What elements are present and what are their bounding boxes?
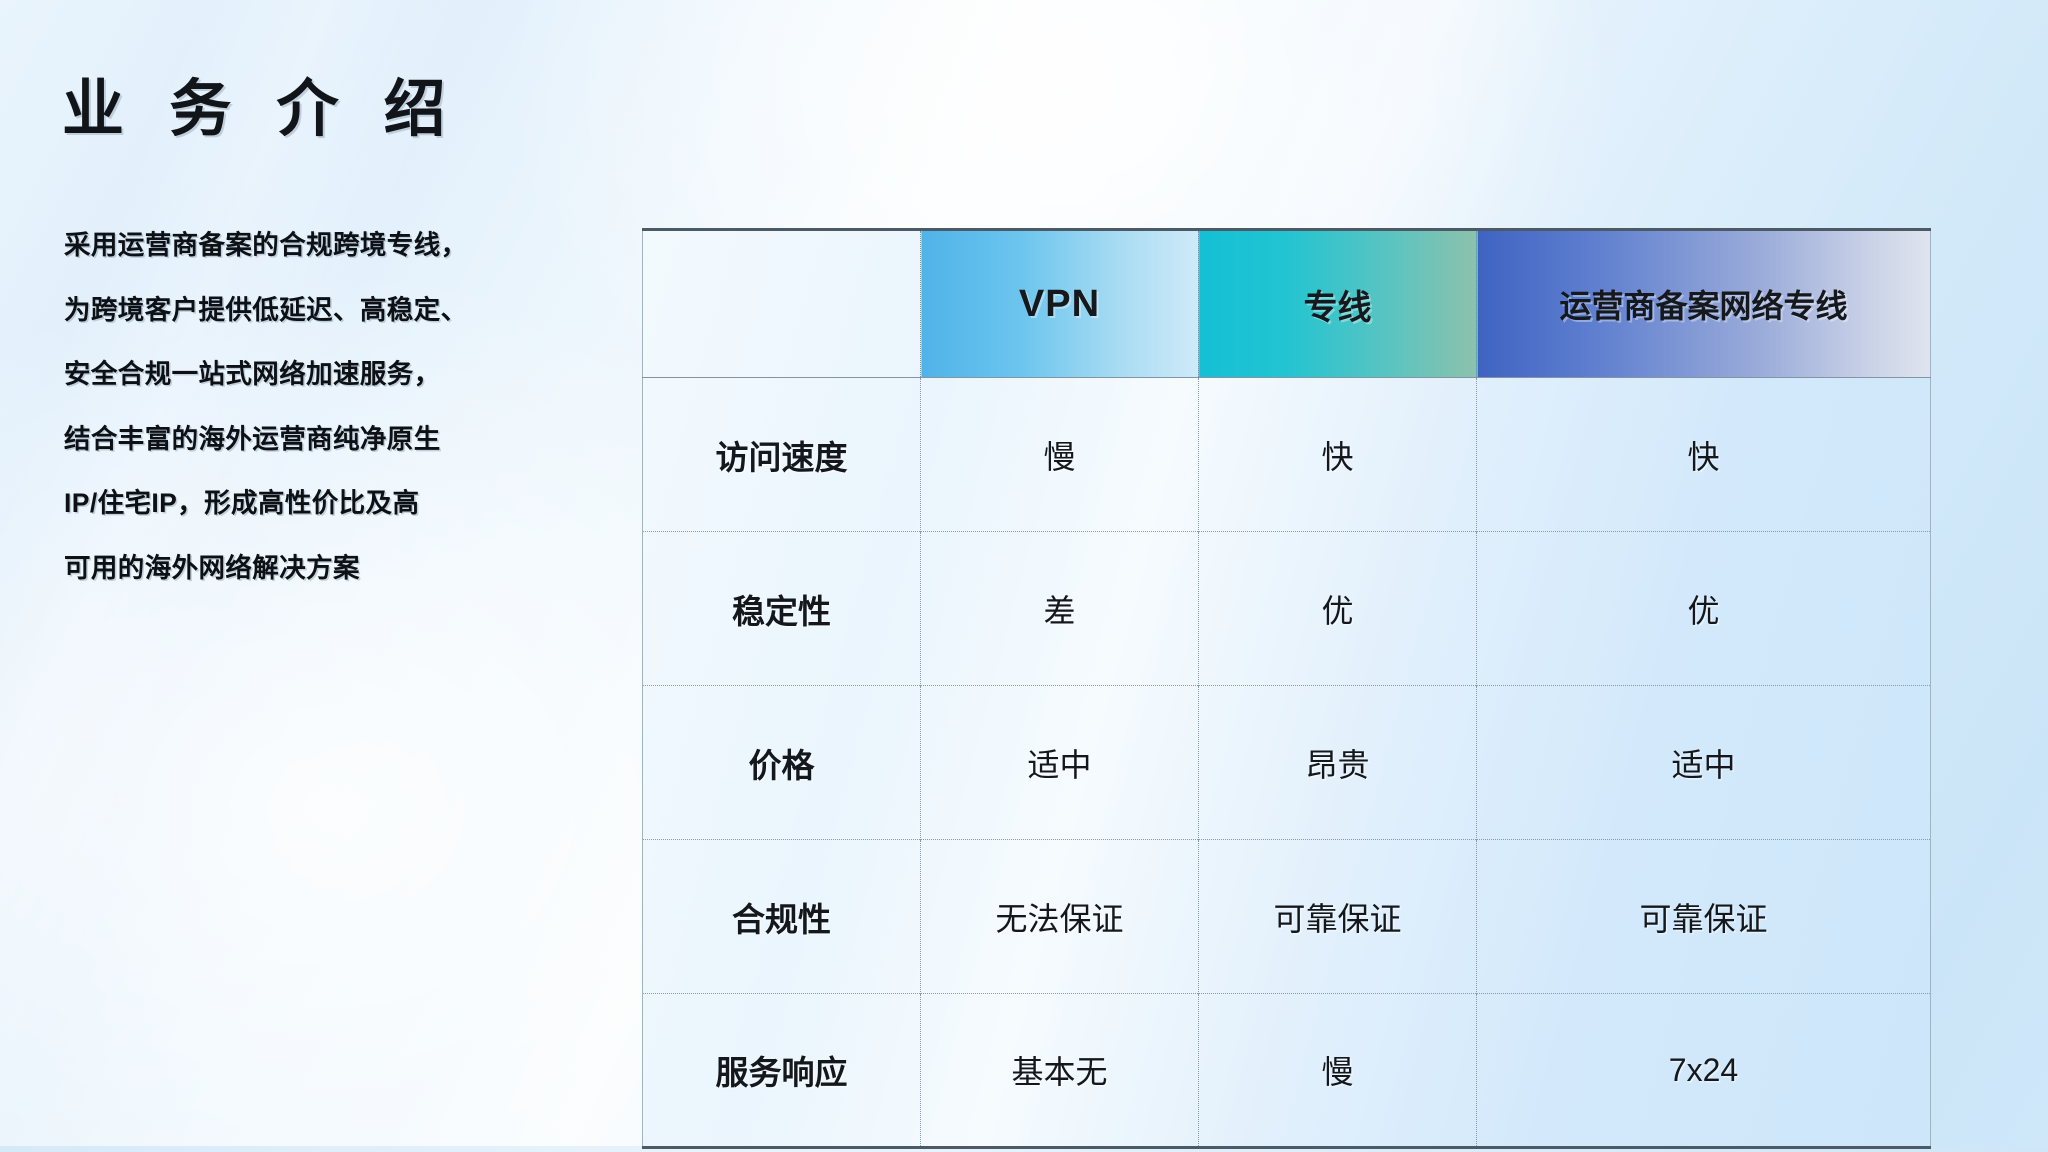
cell-leased: 昂贵 bbox=[1199, 686, 1477, 840]
row-label-compliance: 合规性 bbox=[643, 840, 921, 994]
cell-carrier: 快 bbox=[1477, 378, 1931, 532]
row-label-stability: 稳定性 bbox=[643, 532, 921, 686]
table-row: 访问速度 慢 快 快 bbox=[643, 378, 1931, 532]
cell-vpn: 基本无 bbox=[921, 994, 1199, 1148]
row-label-access-speed: 访问速度 bbox=[643, 378, 921, 532]
cell-carrier: 7x24 bbox=[1477, 994, 1931, 1148]
comparison-table: VPN 专线 运营商备案网络专线 访问速度 慢 快 快 稳定性 差 优 优 bbox=[642, 228, 1931, 1149]
column-header-leased-line: 专线 bbox=[1199, 230, 1477, 378]
column-header-carrier-line: 运营商备案网络专线 bbox=[1477, 230, 1931, 378]
slide-canvas: 业 务 介 绍 采用运营商备案的合规跨境专线， 为跨境客户提供低延迟、高稳定、 … bbox=[0, 0, 2048, 1152]
cell-carrier: 优 bbox=[1477, 532, 1931, 686]
cell-carrier: 适中 bbox=[1477, 686, 1931, 840]
column-header-blank bbox=[643, 230, 921, 378]
column-header-vpn: VPN bbox=[921, 230, 1199, 378]
intro-line: IP/住宅IP，形成高性价比及高 bbox=[64, 490, 624, 517]
cell-leased: 优 bbox=[1199, 532, 1477, 686]
intro-paragraph: 采用运营商备案的合规跨境专线， 为跨境客户提供低延迟、高稳定、 安全合规一站式网… bbox=[64, 232, 624, 581]
table-row: 服务响应 基本无 慢 7x24 bbox=[643, 994, 1931, 1148]
row-label-price: 价格 bbox=[643, 686, 921, 840]
cell-carrier: 可靠保证 bbox=[1477, 840, 1931, 994]
cell-vpn: 无法保证 bbox=[921, 840, 1199, 994]
cell-vpn: 适中 bbox=[921, 686, 1199, 840]
cell-leased: 可靠保证 bbox=[1199, 840, 1477, 994]
intro-line: 采用运营商备案的合规跨境专线， bbox=[64, 232, 624, 259]
intro-line: 安全合规一站式网络加速服务， bbox=[64, 361, 624, 388]
intro-line: 可用的海外网络解决方案 bbox=[64, 555, 624, 582]
intro-line: 为跨境客户提供低延迟、高稳定、 bbox=[64, 297, 624, 324]
table-header-row: VPN 专线 运营商备案网络专线 bbox=[643, 230, 1931, 378]
row-label-service-response: 服务响应 bbox=[643, 994, 921, 1148]
cell-vpn: 慢 bbox=[921, 378, 1199, 532]
comparison-table-wrapper: VPN 专线 运营商备案网络专线 访问速度 慢 快 快 稳定性 差 优 优 bbox=[642, 228, 1930, 1149]
page-title: 业 务 介 绍 bbox=[62, 58, 460, 148]
table-row: 稳定性 差 优 优 bbox=[643, 532, 1931, 686]
table-row: 价格 适中 昂贵 适中 bbox=[643, 686, 1931, 840]
cell-leased: 慢 bbox=[1199, 994, 1477, 1148]
table-row: 合规性 无法保证 可靠保证 可靠保证 bbox=[643, 840, 1931, 994]
table-header: VPN 专线 运营商备案网络专线 bbox=[643, 230, 1931, 378]
intro-line: 结合丰富的海外运营商纯净原生 bbox=[64, 426, 624, 453]
table-body: 访问速度 慢 快 快 稳定性 差 优 优 价格 适中 昂贵 适中 bbox=[643, 378, 1931, 1148]
cell-vpn: 差 bbox=[921, 532, 1199, 686]
cell-leased: 快 bbox=[1199, 378, 1477, 532]
